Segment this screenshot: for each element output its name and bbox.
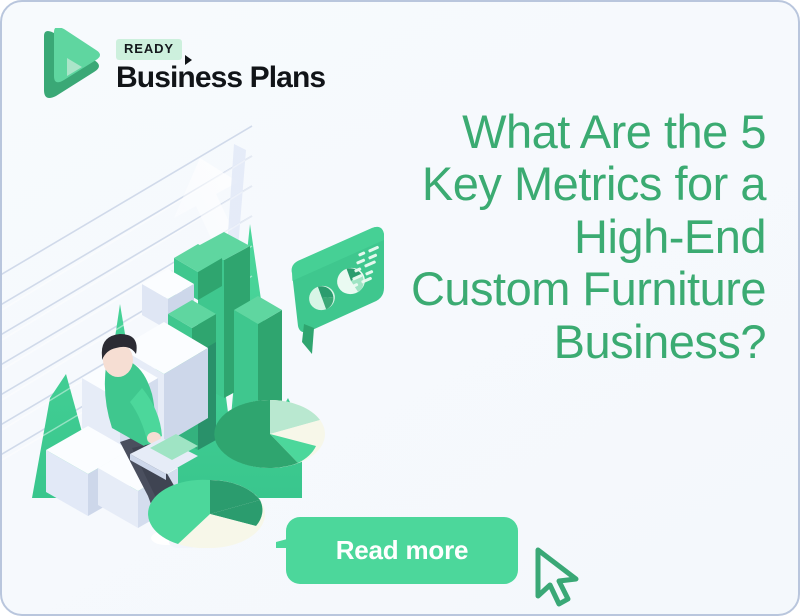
play-triangle-logo-icon (32, 28, 102, 106)
wordmark-text: Business Plans (116, 61, 325, 94)
mouse-pointer-arrow-icon (530, 544, 592, 610)
pie-chart-lower (148, 480, 265, 548)
pie-chart-upper (214, 400, 325, 468)
logo-lockup[interactable]: READY Business Plans (32, 28, 325, 106)
ready-badge: READY (116, 39, 182, 60)
wordmark: Business Plans (116, 62, 325, 94)
isometric-business-analytics-illustration (2, 98, 432, 548)
play-tick-icon (185, 55, 192, 65)
read-more-button[interactable]: Read more (286, 517, 518, 584)
ad-card: READY Business Plans What Are the 5 Key … (0, 0, 800, 616)
speech-bubble-card (292, 227, 384, 354)
page-title: What Are the 5 Key Metrics for a High-En… (406, 106, 766, 368)
